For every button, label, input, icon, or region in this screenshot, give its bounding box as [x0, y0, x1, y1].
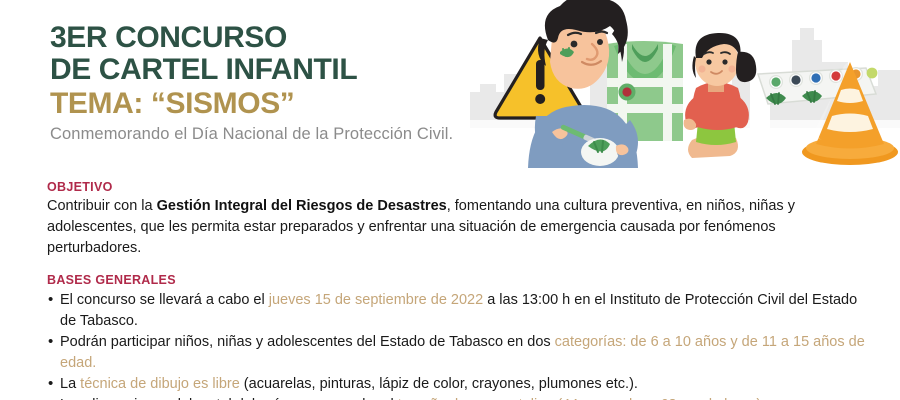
section-spacer — [47, 259, 867, 273]
bases-list: El concurso se llevará a cabo el jueves … — [47, 290, 867, 400]
traffic-cone-icon — [802, 62, 898, 165]
page-title-line-1: 3ER CONCURSO — [50, 22, 530, 54]
paint-palette-icon — [758, 68, 877, 104]
bullet-text-highlight: jueves 15 de septiembre de 2022 — [269, 292, 483, 308]
bullet-text-pre: La — [60, 376, 80, 392]
bullet-text-pre: El concurso se llevará a cabo el — [60, 292, 269, 308]
objetivo-heading: OBJETIVO — [47, 180, 867, 194]
bases-heading: BASES GENERALES — [47, 273, 867, 287]
bullet-text-post: (acuarelas, pinturas, lápiz de color, cr… — [240, 376, 638, 392]
body-content: OBJETIVO Contribuir con la Gestión Integ… — [47, 180, 867, 400]
bullet-text-highlight: técnica de dibujo es libre — [80, 376, 240, 392]
objetivo-text-pre: Contribuir con la — [47, 198, 157, 214]
list-item: El concurso se llevará a cabo el jueves … — [47, 290, 867, 332]
bullet-text-pre: Podrán participar niños, niñas y adolesc… — [60, 334, 555, 350]
woman-painting-figure — [528, 0, 638, 168]
page-title-tema: TEMA: “SISMOS” — [50, 87, 530, 121]
poster-page: 3ER CONCURSO DE CARTEL INFANTIL TEMA: “S… — [0, 0, 900, 400]
objetivo-paragraph: Contribuir con la Gestión Integral del R… — [47, 196, 867, 259]
page-title-line-2: DE CARTEL INFANTIL — [50, 54, 530, 86]
child-sitting-figure — [684, 33, 757, 158]
hero-illustration — [470, 0, 900, 168]
title-block: 3ER CONCURSO DE CARTEL INFANTIL TEMA: “S… — [50, 22, 530, 144]
objetivo-text-bold: Gestión Integral del Riesgos de Desastre… — [157, 198, 447, 214]
safety-vest-icon — [603, 41, 687, 141]
list-item: Podrán participar niños, niñas y adolesc… — [47, 332, 867, 374]
page-subtitle: Conmemorando el Día Nacional de la Prote… — [50, 125, 530, 144]
city-skyline-silhouette — [470, 28, 900, 132]
list-item: La técnica de dibujo es libre (acuarelas… — [47, 374, 867, 395]
list-item: Las dimensiones del cartel deberán corre… — [47, 395, 867, 400]
